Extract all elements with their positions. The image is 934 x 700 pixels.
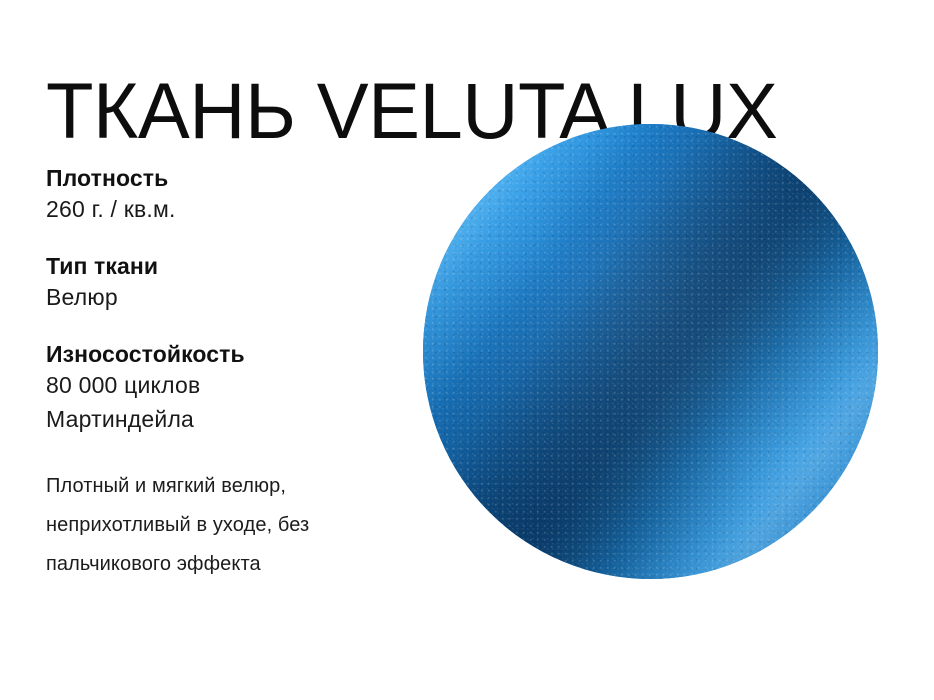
- spec-value-durability: 80 000 циклов: [46, 369, 406, 401]
- fabric-spec-card: ТКАНЬ VELUTA LUX Плотность 260 г. / кв.м…: [0, 0, 934, 700]
- fabric-description: Плотный и мягкий велюр, неприхотливый в …: [46, 467, 426, 584]
- spec-label-density: Плотность: [46, 163, 406, 193]
- spec-item-fabric-type: Тип ткани Велюр: [46, 251, 406, 313]
- spec-item-durability: Износостойкость 80 000 циклов Мартиндейл…: [46, 339, 406, 437]
- fabric-texture-art: [423, 124, 878, 579]
- spec-label-durability: Износостойкость: [46, 339, 406, 369]
- fabric-weave-grain: [423, 124, 878, 579]
- spec-value-fabric-type: Велюр: [46, 281, 406, 313]
- spec-label-fabric-type: Тип ткани: [46, 251, 406, 281]
- fabric-swatch-circle: [423, 124, 878, 579]
- spec-item-density: Плотность 260 г. / кв.м.: [46, 163, 406, 225]
- spec-value-density: 260 г. / кв.м.: [46, 193, 406, 225]
- spec-value-durability-unit: Мартиндейла: [46, 401, 406, 437]
- spec-list: Плотность 260 г. / кв.м. Тип ткани Велюр…: [46, 163, 406, 437]
